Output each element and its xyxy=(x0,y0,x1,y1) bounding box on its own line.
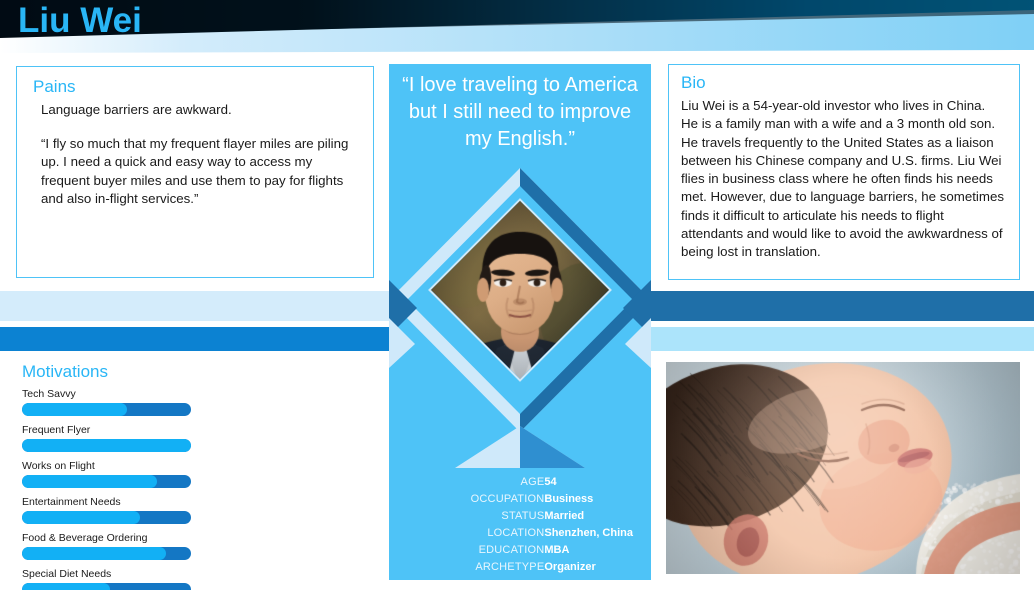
motivation-row: Special Diet Needs xyxy=(22,568,222,590)
attribute-label: OCCUPATION xyxy=(471,491,545,508)
motivation-bar xyxy=(22,475,191,488)
attribute-value: Shenzhen, China xyxy=(544,525,633,542)
motivation-bar xyxy=(22,511,191,524)
motivation-bar xyxy=(22,403,191,416)
persona-page: Liu Wei Pains Language barriers are awkw… xyxy=(0,0,1034,590)
motivation-row: Food & Beverage Ordering xyxy=(22,532,222,560)
attribute-label: EDUCATION xyxy=(471,542,545,559)
motivation-row: Tech Savvy xyxy=(22,388,222,416)
motivation-row: Works on Flight xyxy=(22,460,222,488)
motivation-label: Special Diet Needs xyxy=(22,568,222,581)
header-banner-shape xyxy=(0,0,1034,62)
motivation-row: Frequent Flyer xyxy=(22,424,222,452)
baby-photo xyxy=(666,362,1020,574)
motivation-row: Entertainment Needs xyxy=(22,496,222,524)
attribute-value: MBA xyxy=(544,542,633,559)
motivation-label: Entertainment Needs xyxy=(22,496,222,509)
bio-heading: Bio xyxy=(681,73,1005,93)
motivation-bar-fill xyxy=(22,511,140,524)
motivation-bar-fill xyxy=(22,547,166,560)
motivation-label: Frequent Flyer xyxy=(22,424,222,437)
page-header: Liu Wei xyxy=(0,0,1034,62)
attribute-row: EDUCATIONMBA xyxy=(471,542,633,559)
motivation-bar xyxy=(22,583,191,590)
pains-body: Language barriers are awkward. “I fly so… xyxy=(33,101,359,209)
attribute-label: LOCATION xyxy=(471,525,545,542)
attribute-label: STATUS xyxy=(471,508,545,525)
attribute-value: 54 xyxy=(544,474,633,491)
attributes-list: AGE54OCCUPATIONBusinessSTATUSMarriedLOCA… xyxy=(471,474,633,576)
motivations-heading: Motivations xyxy=(22,362,222,382)
motivations-list: Tech SavvyFrequent FlyerWorks on FlightE… xyxy=(22,388,222,590)
pains-paragraph-1: Language barriers are awkward. xyxy=(41,101,359,120)
motivation-bar xyxy=(22,439,191,452)
baby-photo-canvas xyxy=(666,362,1020,574)
accent-band-light-right xyxy=(636,327,1034,351)
attribute-row: ARCHETYPEOrganizer xyxy=(471,559,633,576)
motivation-bar-fill xyxy=(22,583,110,590)
attribute-row: OCCUPATIONBusiness xyxy=(471,491,633,508)
attribute-label: AGE xyxy=(471,474,545,491)
bio-text: Liu Wei is a 54-year-old investor who li… xyxy=(681,97,1005,262)
pains-paragraph-2: “I fly so much that my frequent flayer m… xyxy=(41,135,359,209)
attributes-table: AGE54OCCUPATIONBusinessSTATUSMarriedLOCA… xyxy=(389,474,651,576)
persona-quote: “I love traveling to America but I still… xyxy=(389,72,651,153)
center-panel: “I love traveling to America but I still… xyxy=(389,64,651,580)
attribute-value: Business xyxy=(544,491,633,508)
attribute-value: Organizer xyxy=(544,559,633,576)
motivation-bar-fill xyxy=(22,475,157,488)
attribute-label: ARCHETYPE xyxy=(471,559,545,576)
page-title: Liu Wei xyxy=(18,1,142,41)
pains-heading: Pains xyxy=(33,77,359,97)
motivation-bar xyxy=(22,547,191,560)
attribute-row: AGE54 xyxy=(471,474,633,491)
pains-panel: Pains Language barriers are awkward. “I … xyxy=(16,66,374,278)
bio-panel: Bio Liu Wei is a 54-year-old investor wh… xyxy=(668,64,1020,280)
portrait-diamond-frame xyxy=(389,168,651,468)
motivation-label: Works on Flight xyxy=(22,460,222,473)
motivation-label: Food & Beverage Ordering xyxy=(22,532,222,545)
motivation-bar-fill xyxy=(22,439,191,452)
attribute-row: STATUSMarried xyxy=(471,508,633,525)
accent-band-dark-right xyxy=(636,291,1034,321)
motivation-bar-fill xyxy=(22,403,127,416)
attribute-row: LOCATIONShenzhen, China xyxy=(471,525,633,542)
motivations-section: Motivations Tech SavvyFrequent FlyerWork… xyxy=(22,362,222,590)
motivation-label: Tech Savvy xyxy=(22,388,222,401)
attribute-value: Married xyxy=(544,508,633,525)
